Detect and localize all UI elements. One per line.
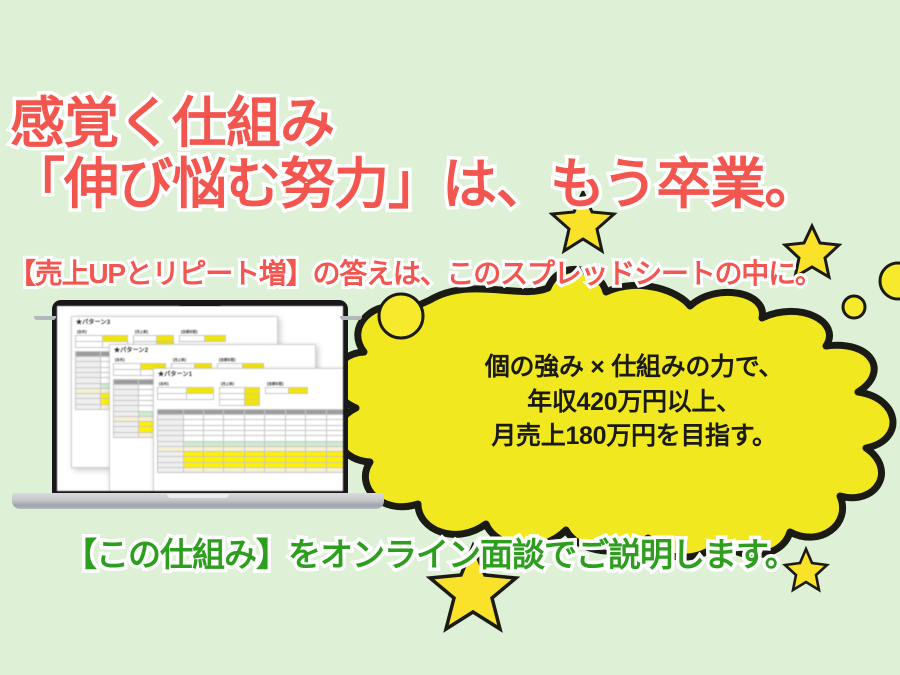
condition-table <box>157 387 214 400</box>
headline-line-1: 感覚く仕組み <box>10 96 818 151</box>
rate-table <box>219 387 260 406</box>
section-label-condition: 【条件】 <box>113 358 166 362</box>
laptop-base <box>12 493 384 509</box>
yellow-circle-small <box>843 296 865 318</box>
laptop-trackpad-notch <box>167 494 229 498</box>
spreadsheet-title: ★パターン3 <box>76 320 277 328</box>
target-table <box>265 387 308 394</box>
section-label-condition: 【条件】 <box>75 330 128 334</box>
burst-line-3: 月売上180万円を目指す。 <box>434 419 834 454</box>
headline-line-2: 「伸び悩む努力」は、もう卒業。 <box>10 157 818 212</box>
footer-cta-text: 【この仕組み】をオンライン面談でご説明します。 <box>64 528 797 576</box>
starburst-text: 個の強み × 仕組みの力で、 年収420万円以上、 月売上180万円を目指す。 <box>434 350 834 454</box>
yellow-circle-large <box>379 294 423 338</box>
sub-headline: 【売上UPとリピート増】の答えは、このスプレッドシートの中に。 <box>8 252 822 292</box>
spreadsheet-title: ★パターン2 <box>114 348 315 356</box>
section-label-target: 【目標年間】 <box>217 358 264 362</box>
section-label-condition: 【条件】 <box>157 382 214 386</box>
burst-line-2: 年収420万円以上、 <box>434 385 834 420</box>
laptop-device: ★パターン3 【条件】 【売上率】 <box>12 300 384 525</box>
laptop-notch <box>177 301 223 306</box>
section-label-target: 【目標年間】 <box>265 382 308 386</box>
laptop-screen-bezel: ★パターン3 【条件】 【売上率】 <box>52 300 348 496</box>
headline-block: 感覚く仕組み 「伸び悩む努力」は、もう卒業。 <box>10 96 818 212</box>
section-label-rate: 【売上率】 <box>219 382 260 386</box>
yellow-circle-edge <box>880 263 900 299</box>
poster-canvas: ★パターン3 【条件】 【売上率】 <box>0 0 900 675</box>
laptop-foot-left <box>34 316 56 320</box>
section-label-rate: 【売上率】 <box>171 358 212 362</box>
target-table <box>179 335 226 342</box>
section-label-target: 【目標年間】 <box>179 330 226 334</box>
section-label-rate: 【売上率】 <box>133 330 174 334</box>
burst-line-1: 個の強み × 仕組みの力で、 <box>434 350 834 385</box>
laptop-foot-right <box>340 316 362 320</box>
spreadsheet-title: ★パターン1 <box>158 372 343 380</box>
main-grid <box>157 409 343 474</box>
spreadsheet-window-pattern-1[interactable]: ★パターン1 【条件】 【売上率】 <box>153 368 343 491</box>
laptop-display: ★パターン3 【条件】 【売上率】 <box>57 306 343 491</box>
